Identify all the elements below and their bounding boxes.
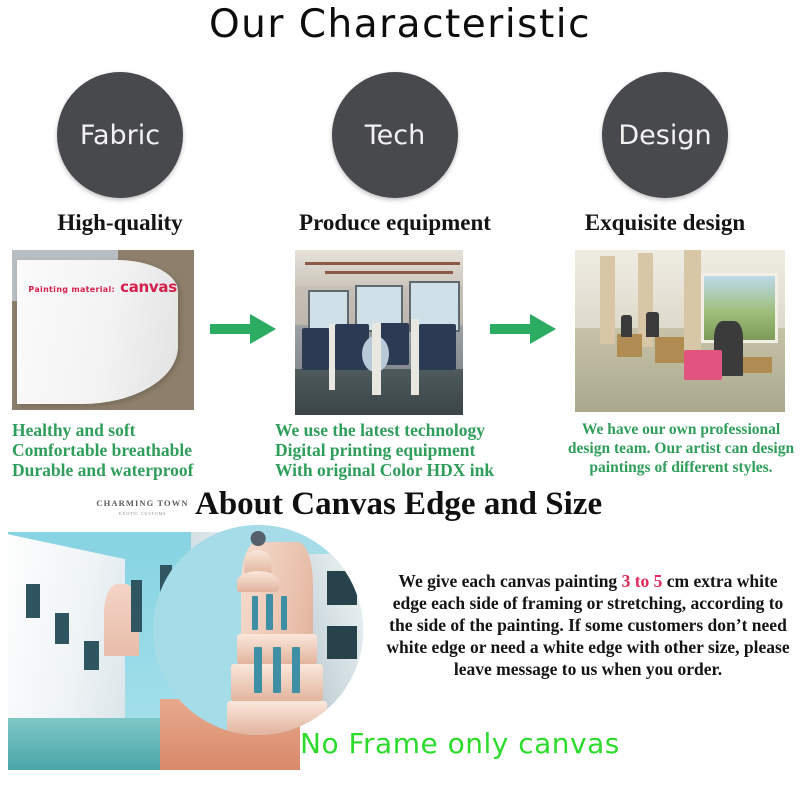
canvas-photo-overlay-text: Painting material: canvas (28, 277, 177, 296)
section-title-canvas-edge: About Canvas Edge and Size (195, 486, 602, 523)
page-title: Our Characteristic (0, 2, 800, 47)
feature-caption-design: Exquisite design (545, 210, 785, 236)
arrow-2-icon (490, 312, 556, 346)
printing-workshop-photo (295, 250, 463, 415)
brand-logo: CHARMING TOWN EXOTIC CUSTOMS (80, 498, 205, 516)
brand-tagline: EXOTIC CUSTOMS (80, 511, 205, 516)
no-frame-notice: No Frame only canvas (300, 727, 620, 760)
feature-bubble-design: Design (602, 72, 728, 198)
feature-column-fabric: Fabric High-quality (0, 72, 240, 236)
canvas-material-photo: Painting material: canvas (12, 250, 194, 410)
feature-description-fabric: Healthy and soft Comfortable breathable … (12, 420, 262, 480)
feature-column-design: Design Exquisite design (545, 72, 785, 236)
feature-bubble-tech: Tech (332, 72, 458, 198)
canvas-overlay-label: Painting material: (28, 285, 115, 294)
bell-tower-circle-inset (153, 525, 363, 735)
edge-paragraph-part1: We give each canvas painting (398, 571, 621, 591)
feature-description-tech: We use the latest technology Digital pri… (275, 420, 540, 480)
arrow-1-icon (210, 312, 276, 346)
canvas-edge-paragraph: We give each canvas painting 3 to 5 cm e… (382, 570, 794, 680)
feature-caption-fabric: High-quality (0, 210, 240, 236)
infographic-page: Our Characteristic Fabric High-quality T… (0, 0, 800, 800)
feature-bubble-label: Fabric (80, 122, 160, 149)
feature-bubble-label: Design (618, 122, 711, 149)
feature-bubble-label: Tech (365, 122, 425, 149)
edge-paragraph-highlight: 3 to 5 (622, 571, 663, 591)
brand-name: CHARMING TOWN (80, 498, 205, 508)
design-studio-photo (575, 250, 785, 412)
feature-description-design: We have our own professional design team… (565, 420, 797, 477)
feature-caption-tech: Produce equipment (275, 210, 515, 236)
feature-bubble-fabric: Fabric (57, 72, 183, 198)
canvas-overlay-value: canvas (120, 278, 177, 296)
feature-column-tech: Tech Produce equipment (275, 72, 515, 236)
